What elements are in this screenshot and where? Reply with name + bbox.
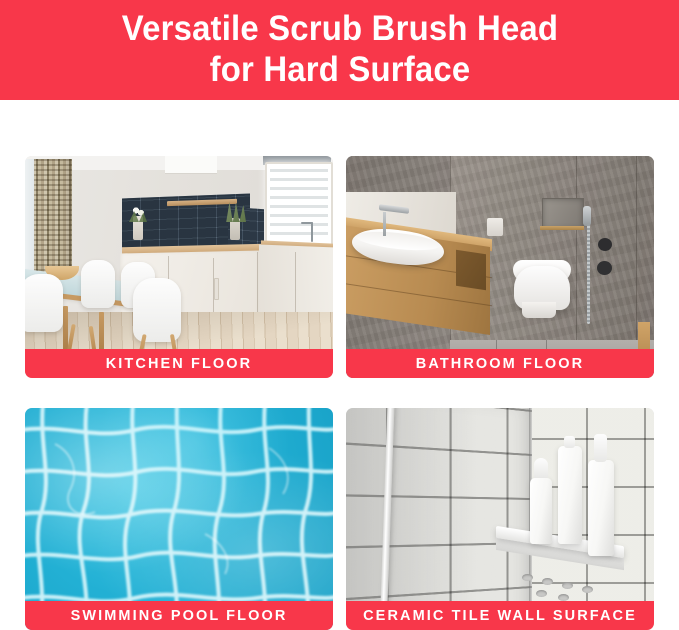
kitchen-cabinet-handle xyxy=(214,278,219,300)
bathroom-sprayer-hose xyxy=(587,224,590,324)
page-title: Versatile Scrub Brush Headfor Hard Surfa… xyxy=(39,9,641,90)
bathroom-faucet-spout xyxy=(383,212,386,236)
shelf-drain-hole-5 xyxy=(536,590,547,597)
use-case-card-kitchen-floor: KITCHEN FLOOR xyxy=(25,156,333,378)
use-case-card-swimming-pool-floor: SWIMMING POOL FLOOR xyxy=(25,408,333,630)
card-label-bathroom-floor: BATHROOM FLOOR xyxy=(346,349,654,378)
use-case-card-bathroom-floor: BATHROOM FLOOR xyxy=(346,156,654,378)
card-label-kitchen-floor: KITCHEN FLOOR xyxy=(25,349,333,378)
soap-bottle-middle xyxy=(558,446,582,544)
kitchen-clerestory-window xyxy=(165,156,217,174)
bathroom-toilet-base xyxy=(522,302,556,318)
shelf-drain-hole-3 xyxy=(562,582,573,589)
header-banner: Versatile Scrub Brush Headfor Hard Surfa… xyxy=(0,0,679,100)
shelf-drain-hole-1 xyxy=(522,574,533,581)
bathroom-niche-wood-lip xyxy=(540,226,584,230)
shelf-drain-hole-4 xyxy=(582,586,593,593)
soap-pump-left xyxy=(534,458,548,478)
pool-water-highlights xyxy=(25,408,333,630)
bathroom-vanity-open-niche xyxy=(456,250,486,290)
kitchen-chair-front-left xyxy=(25,274,63,332)
kitchen-window-blinds xyxy=(270,167,328,241)
bathroom-bidet-sprayer xyxy=(583,206,591,226)
use-case-grid: KITCHEN FLOOR xyxy=(25,156,654,630)
bottle-cap-middle xyxy=(564,436,575,448)
kitchen-sheer-curtain xyxy=(25,159,34,281)
bathroom-shower-valve-2 xyxy=(597,261,612,275)
kitchen-photo xyxy=(25,156,333,378)
kitchen-chair-back-left xyxy=(81,260,115,308)
soap-pump-right xyxy=(594,434,607,462)
soap-bottle-right xyxy=(588,460,614,556)
shelf-drain-hole-2 xyxy=(542,578,553,585)
shelf-drain-hole-6 xyxy=(558,594,569,601)
kitchen-window xyxy=(265,162,333,246)
title-line-2: for Hard Surface xyxy=(39,50,641,91)
kitchen-faucet xyxy=(311,222,313,242)
swimming-pool-photo xyxy=(25,408,333,630)
card-label-ceramic-tile-wall-surface: CERAMIC TILE WALL SURFACE xyxy=(346,601,654,630)
use-case-card-ceramic-tile-wall-surface: CERAMIC TILE WALL SURFACE xyxy=(346,408,654,630)
kitchen-chair-front-right xyxy=(133,278,181,342)
bathroom-photo xyxy=(346,156,654,378)
bathroom-shower-valve-1 xyxy=(598,238,612,251)
product-infographic: Versatile Scrub Brush Headfor Hard Surfa… xyxy=(0,0,679,630)
soap-bottle-left xyxy=(530,478,552,544)
ceramic-tile-wall-photo xyxy=(346,408,654,630)
title-line-1: Versatile Scrub Brush Head xyxy=(121,9,557,48)
bathroom-toilet-paper-holder xyxy=(487,218,503,236)
kitchen-patterned-curtain xyxy=(30,159,72,281)
tile-wall-left-shading xyxy=(346,408,532,630)
card-label-swimming-pool-floor: SWIMMING POOL FLOOR xyxy=(25,601,333,630)
